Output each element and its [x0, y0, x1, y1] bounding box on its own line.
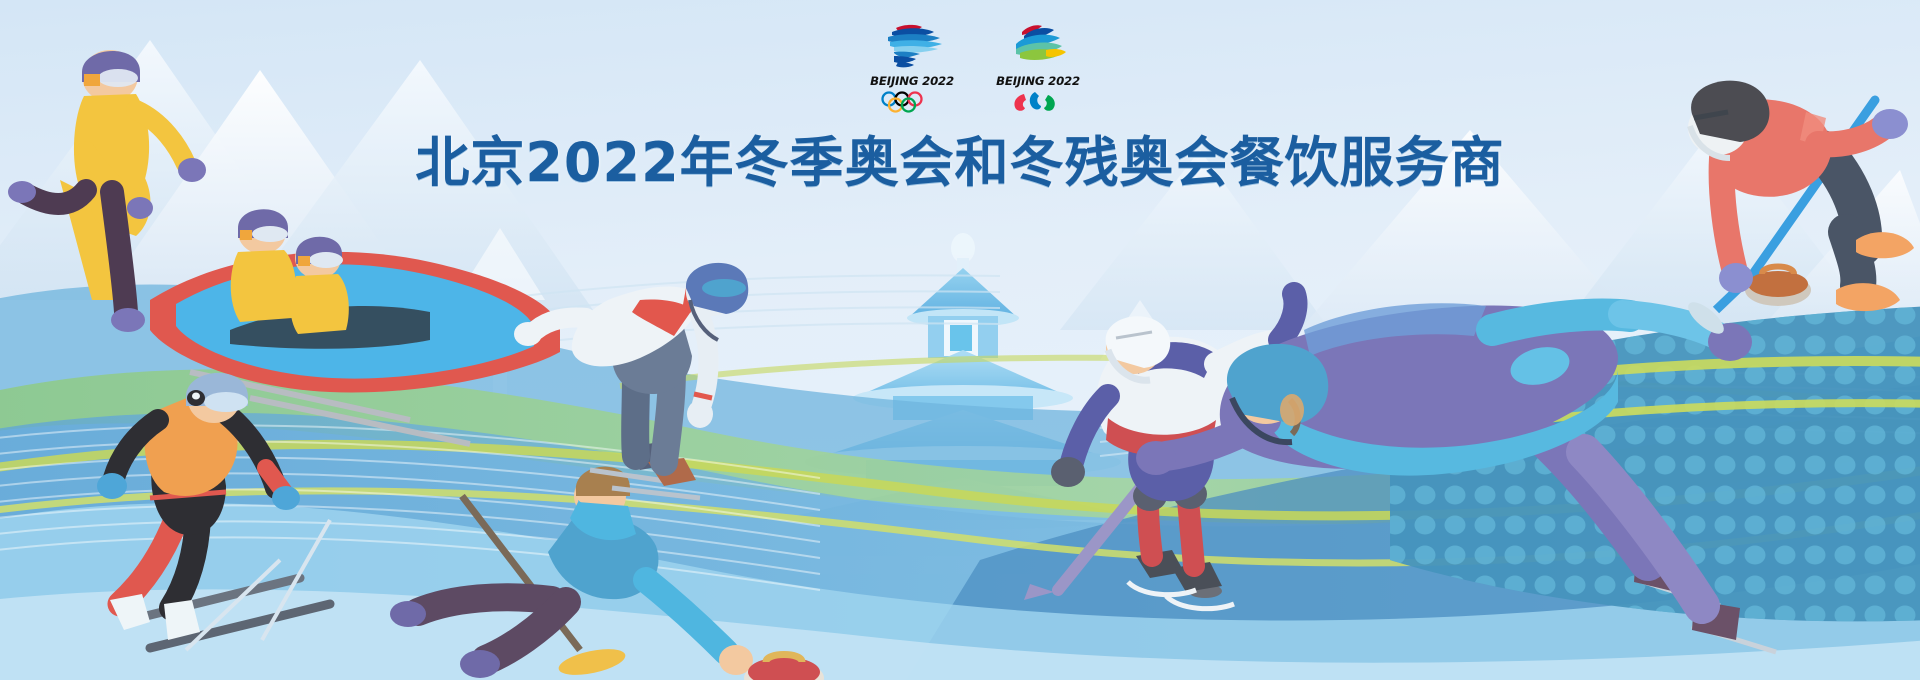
emblem-group: BEIJING 2022 BEIJING 20 [860, 22, 1090, 118]
paralympic-wordmark: BEIJING 2022 [996, 74, 1080, 88]
olympic-wordmark: BEIJING 2022 [870, 74, 954, 88]
speed-skater-white [514, 263, 748, 498]
paralympic-agitos-icon [1004, 91, 1072, 113]
beijing-2022-paralympic-emblem: BEIJING 2022 [986, 22, 1090, 113]
beijing-2022-catering-banner: BEIJING 2022 BEIJING 20 [0, 0, 1920, 680]
cross-country-skier [97, 373, 330, 650]
olympic-winter-dream-mark [876, 22, 948, 72]
paralympic-leap-mark [1002, 22, 1074, 72]
beijing-2022-olympic-emblem: BEIJING 2022 [860, 22, 964, 113]
olympic-rings-icon [878, 91, 946, 113]
bobsleigh-push-team [8, 50, 560, 444]
curler-delivery [390, 467, 824, 680]
page-title: 北京2022年冬季奥会和冬残奥会餐饮服务商 [0, 118, 1920, 197]
